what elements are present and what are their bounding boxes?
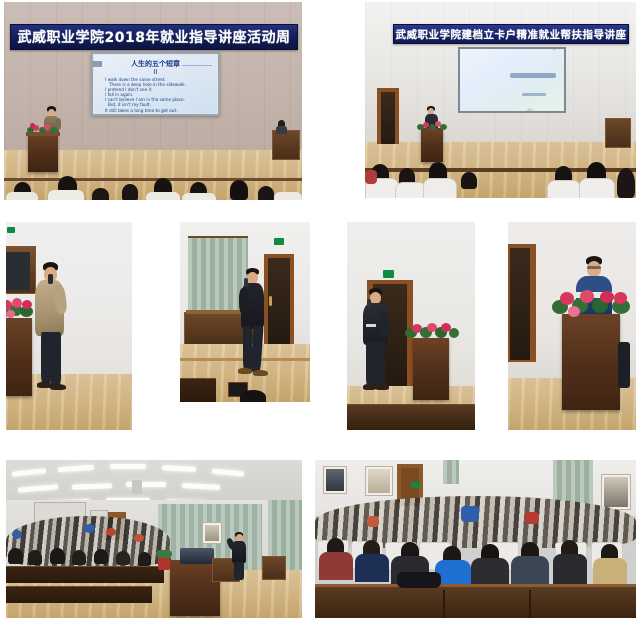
slide-corner-mark (92, 61, 102, 67)
front-desk (347, 404, 475, 430)
exit-sign-icon (383, 270, 394, 278)
flower-leaf (50, 127, 58, 133)
audience-head (258, 186, 274, 200)
audience-head (8, 548, 23, 564)
audience-colorspot (525, 512, 539, 524)
flower-bloom (580, 290, 594, 303)
audience-body (593, 558, 627, 586)
audience-head-foreground (240, 390, 266, 402)
lectern (562, 314, 620, 410)
speaker-leg-right (50, 332, 61, 386)
exit-sign-icon (274, 238, 284, 245)
side-door-pane (381, 92, 395, 144)
audience-body (355, 554, 389, 582)
lectern (28, 132, 58, 172)
lectern-flowers (417, 120, 447, 131)
flower-bloom (568, 306, 580, 317)
audience-head (617, 168, 635, 198)
auditorium-scene-1: 武威职业学院2018年就业指导讲座活动周 人生的五个短章 II I walk d… (4, 2, 302, 200)
front-desk (180, 378, 216, 402)
audience-head (240, 390, 266, 402)
speaker-scene-2 (180, 222, 310, 402)
audience-colorspot (84, 524, 95, 533)
slide-text-line (510, 73, 556, 78)
photo-gallery: 武威职业学院2018年就业指导讲座活动周 人生的五个短章 II I walk d… (0, 0, 636, 618)
badge-icon (366, 324, 376, 327)
lectern (6, 318, 32, 396)
speaker-shoe-right (253, 370, 268, 376)
photo-bottom-right[interactable] (315, 460, 636, 618)
side-person (276, 120, 288, 134)
seat-back (6, 192, 38, 200)
audience-body (553, 554, 587, 584)
photo-top-right[interactable]: 武威职业学院建档立卡户精准就业帮扶指导讲座 (365, 2, 636, 198)
photo-top-left[interactable]: 武威职业学院2018年就业指导讲座活动周 人生的五个短章 II I walk d… (4, 2, 302, 200)
slide-chapter: II (94, 68, 217, 76)
front-desk-row (315, 586, 636, 618)
audience-row (365, 154, 636, 198)
slide-title-rule (182, 65, 212, 66)
desk-divider (443, 590, 445, 618)
projection-screen: 人生的五个短章 II I walk down the same street. … (91, 52, 220, 116)
audience-desk-row-lower (6, 586, 152, 603)
audience-colorspot (12, 530, 22, 539)
door-pane (510, 248, 530, 360)
speaker-scene-3 (347, 222, 475, 430)
audience-head (28, 550, 42, 565)
lectern (413, 338, 449, 400)
speaker-scene-1 (6, 222, 132, 430)
audience-head (230, 180, 248, 200)
speaker-scene-4 (508, 222, 636, 430)
speaker-arm (239, 288, 248, 314)
lectern-flowers (26, 123, 60, 135)
side-equipment (605, 118, 631, 148)
presenter-leg (234, 562, 244, 580)
speaker (361, 288, 395, 394)
wall-picture (202, 522, 222, 544)
slide-surface: 人生的五个短章 II I walk down the same street. … (94, 55, 217, 113)
speaker-arm (379, 312, 389, 338)
event-banner-text: 武威职业学院建档立卡户精准就业帮扶指导讲座 (396, 27, 627, 42)
audience-head (72, 550, 86, 565)
glasses-icon (587, 266, 601, 269)
auditorium-scene-2: 武威职业学院建档立卡户精准就业帮扶指导讲座 (365, 2, 636, 198)
audience-head (461, 172, 477, 189)
speaker-leg-right (375, 342, 385, 386)
audience-head (122, 184, 138, 200)
presenter (230, 532, 248, 580)
picture-art (326, 469, 344, 491)
audience-closeup (315, 460, 636, 618)
photo-middle-3[interactable] (347, 222, 475, 430)
audience-colorspot (134, 534, 144, 542)
slide-poem: I walk down the same street. There is a … (105, 77, 211, 113)
projection-screen (458, 47, 566, 113)
speaker-shoe-right (375, 384, 389, 390)
lectern-flowers (6, 298, 34, 322)
flower-bloom (12, 298, 22, 308)
projector-icon (132, 480, 142, 494)
slide-text-line (522, 93, 546, 96)
audience-head (50, 548, 65, 564)
photo-middle-4[interactable] (508, 222, 636, 430)
picture-art (205, 525, 219, 541)
desk-divider (529, 590, 531, 618)
seat-back (146, 192, 180, 200)
audience-head (92, 188, 109, 200)
lectern-flowers (552, 288, 632, 320)
flower-leaf (449, 328, 459, 338)
microphone-icon (244, 278, 248, 287)
ceiling-light (110, 464, 146, 469)
wall-picture (365, 466, 393, 496)
desk-top-edge (315, 584, 636, 587)
microphone-icon (367, 299, 371, 308)
picture-art (368, 469, 390, 493)
speaker-leg-behind (618, 342, 630, 388)
photo-middle-1[interactable] (6, 222, 132, 430)
audience-head (116, 551, 130, 565)
speaker (238, 268, 270, 380)
audience-front-row (315, 526, 636, 586)
event-banner: 武威职业学院建档立卡户精准就业帮扶指导讲座 (393, 24, 629, 44)
speaker (32, 262, 74, 394)
exit-sign-icon (411, 482, 420, 488)
seat-back (579, 178, 615, 198)
event-banner-text: 武威职业学院2018年就业指导讲座活动周 (18, 27, 291, 47)
audience-body (319, 552, 353, 580)
audience-jacket (365, 170, 377, 184)
exit-sign-icon (7, 227, 15, 233)
body-silhouette (276, 126, 287, 134)
seat-back (48, 190, 84, 200)
flower-bloom (22, 300, 32, 309)
seat-back (423, 178, 457, 198)
flower-bloom (30, 123, 35, 128)
speaker-leg-left (366, 342, 375, 386)
photo-middle-2[interactable] (180, 222, 310, 402)
audience-head (138, 552, 151, 566)
right-cabinet (262, 556, 286, 580)
flower-bloom (6, 310, 15, 318)
plant-icon (156, 550, 172, 558)
audience-desk-row (6, 566, 164, 583)
cabinet-glass (6, 252, 30, 290)
flower-leaf (440, 124, 447, 130)
bag-icon (397, 572, 441, 588)
window-curtain (443, 460, 459, 484)
seat-back (274, 192, 302, 200)
audience-head (94, 549, 108, 564)
event-banner: 武威职业学院2018年就业指导讲座活动周 (10, 24, 298, 50)
flower-pot (158, 556, 170, 570)
microphone-icon (48, 274, 53, 284)
speaker-shoe-left (238, 368, 252, 374)
lecture-hall-wide (6, 460, 302, 618)
seat-back (547, 180, 581, 198)
speaker-leg-right (250, 326, 263, 373)
poem-line: It still takes a long time to get out. (105, 108, 211, 113)
laptop (180, 548, 214, 564)
flower-bloom (614, 292, 627, 304)
audience-colorspot (106, 528, 116, 536)
speaker-shoe-right (50, 384, 66, 390)
speaker-head (587, 261, 601, 277)
lectern-flowers (405, 322, 459, 342)
photo-bottom-left[interactable] (6, 460, 302, 618)
wall-picture (323, 466, 347, 494)
audience-row (4, 168, 302, 200)
audience-colorspot (461, 506, 479, 522)
side-cabinet (272, 130, 300, 160)
flower-bloom (600, 291, 614, 303)
seat-back (182, 193, 216, 200)
